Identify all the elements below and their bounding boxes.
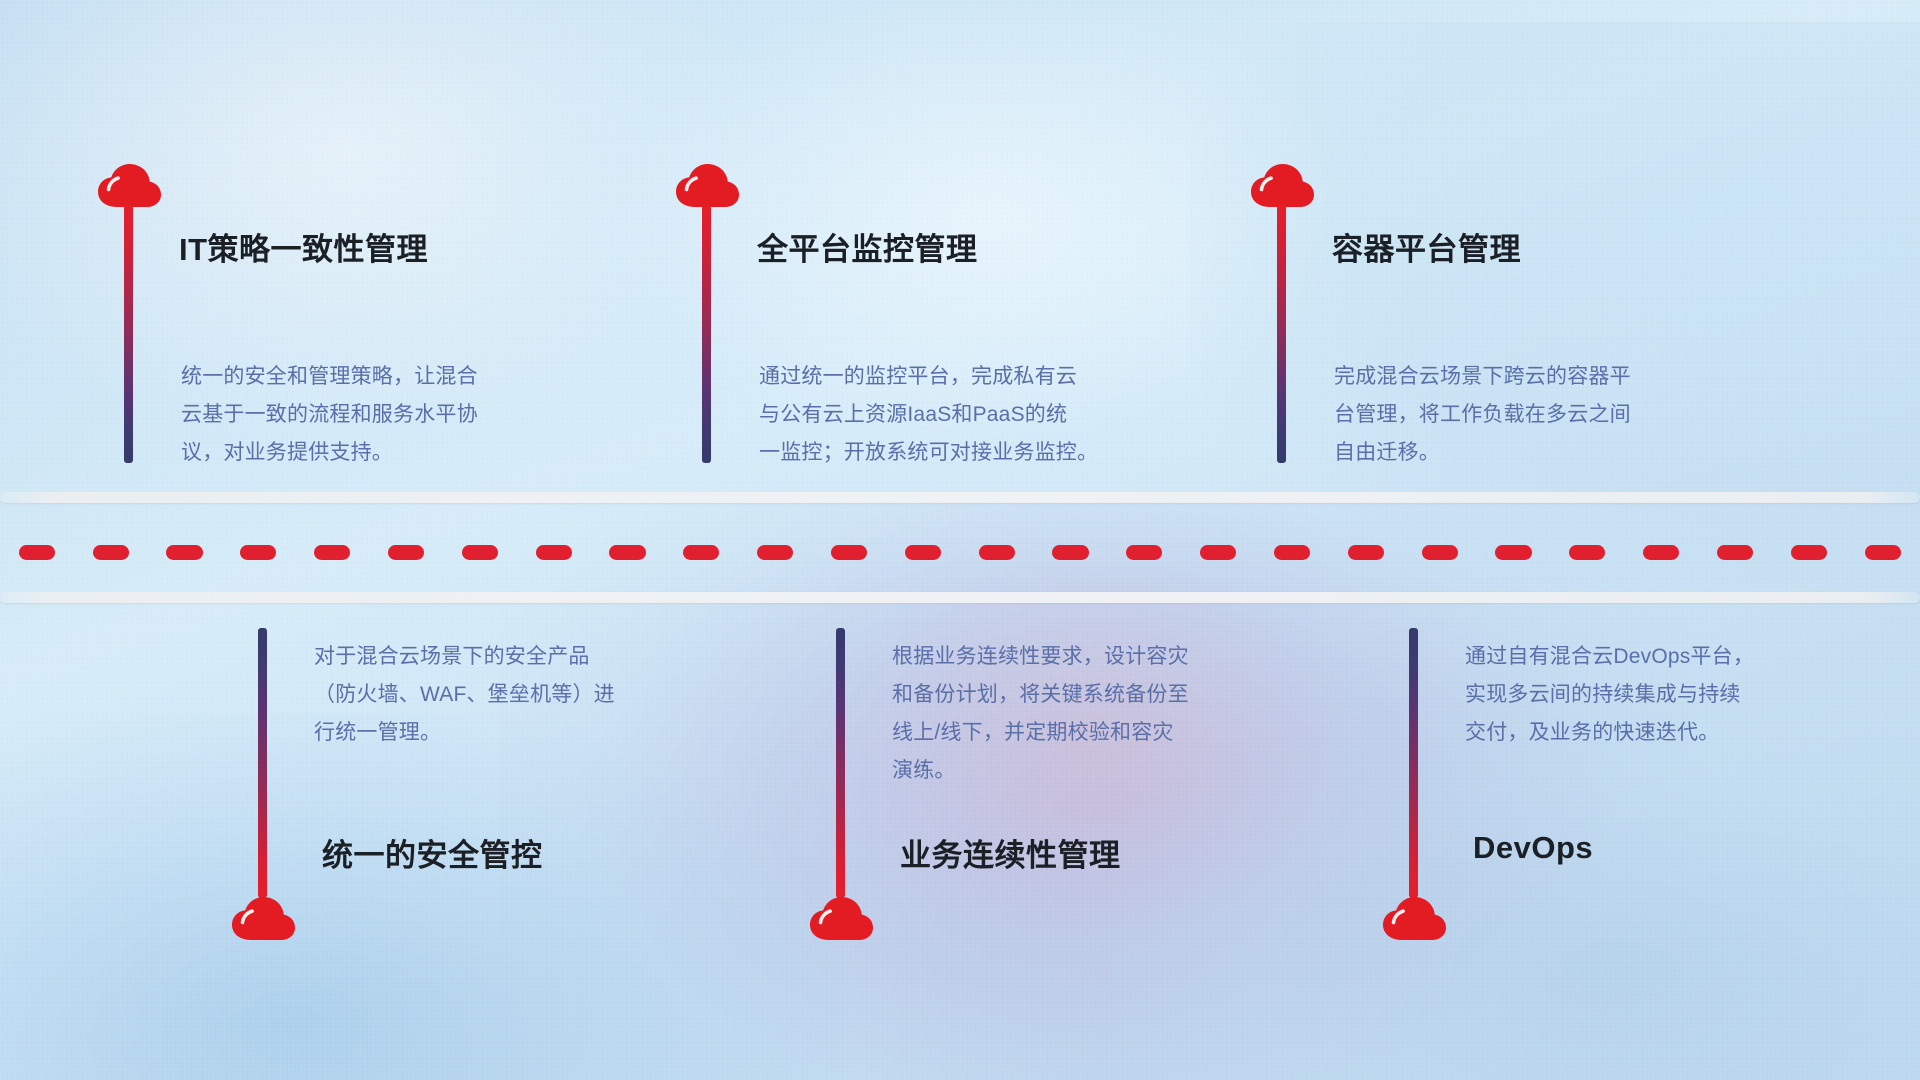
- road-dash: [314, 545, 350, 560]
- cloud-icon: [808, 896, 874, 942]
- road-dash: [1495, 545, 1531, 560]
- top-item-title: 全平台监控管理: [757, 224, 978, 269]
- bottom-item-body: 对于混合云场景下的安全产品 （防火墙、WAF、堡垒机等）进 行统一管理。: [314, 638, 744, 752]
- road-dash: [388, 545, 424, 560]
- bottom-item-body: 通过自有混合云DevOps平台， 实现多云间的持续集成与持续 交付，及业务的快速…: [1465, 638, 1895, 752]
- road-edge-bottom-line: [0, 592, 1920, 603]
- bottom-item-title: 统一的安全管控: [322, 830, 543, 875]
- road-dash: [831, 545, 867, 560]
- road-dash: [19, 545, 55, 560]
- road-dash: [166, 545, 202, 560]
- road-dash: [93, 545, 129, 560]
- road-dash: [240, 545, 276, 560]
- road-dash: [609, 545, 645, 560]
- road-dash: [1791, 545, 1827, 560]
- road-dash: [1200, 545, 1236, 560]
- cloud-icon: [230, 896, 296, 942]
- timeline-stem: [702, 205, 711, 463]
- cloud-icon: [1249, 163, 1315, 209]
- road-dash: [683, 545, 719, 560]
- road-dash: [1274, 545, 1310, 560]
- cloud-icon: [96, 163, 162, 209]
- top-item-title: IT策略一致性管理: [179, 224, 428, 269]
- bottom-item-title: 业务连续性管理: [900, 830, 1121, 875]
- timeline-stem: [836, 628, 845, 898]
- road-center-dashes: [0, 544, 1920, 560]
- top-item-body: 完成混合云场景下跨云的容器平 台管理，将工作负载在多云之间 自由迁移。: [1334, 358, 1764, 472]
- timeline-stem: [1277, 205, 1286, 463]
- road-dash: [1569, 545, 1605, 560]
- road-dash: [536, 545, 572, 560]
- top-item-body: 统一的安全和管理策略，让混合 云基于一致的流程和服务水平协 议，对业务提供支持。: [181, 358, 611, 472]
- timeline-stem: [1409, 628, 1418, 898]
- road-dash: [1126, 545, 1162, 560]
- road-dash: [1052, 545, 1088, 560]
- road-dash: [979, 545, 1015, 560]
- infographic-canvas: IT策略一致性管理 统一的安全和管理策略，让混合 云基于一致的流程和服务水平协 …: [0, 0, 1920, 1080]
- cloud-icon: [1381, 896, 1447, 942]
- road-edge-top-line: [0, 492, 1920, 503]
- road-dash: [1348, 545, 1384, 560]
- top-item-body: 通过统一的监控平台，完成私有云 与公有云上资源IaaS和PaaS的统 一监控；开…: [759, 358, 1189, 472]
- road-dash: [757, 545, 793, 560]
- cloud-icon: [674, 163, 740, 209]
- road-dash: [462, 545, 498, 560]
- timeline-stem: [258, 628, 267, 898]
- road-dash: [1865, 545, 1901, 560]
- road-dash: [1643, 545, 1679, 560]
- bottom-item-title: DevOps: [1473, 830, 1593, 866]
- road-dash: [905, 545, 941, 560]
- timeline-stem: [124, 205, 133, 463]
- bottom-item-body: 根据业务连续性要求，设计容灾 和备份计划，将关键系统备份至 线上/线下，并定期校…: [892, 638, 1322, 790]
- road-dash: [1717, 545, 1753, 560]
- road-dash: [1422, 545, 1458, 560]
- top-item-title: 容器平台管理: [1332, 224, 1521, 269]
